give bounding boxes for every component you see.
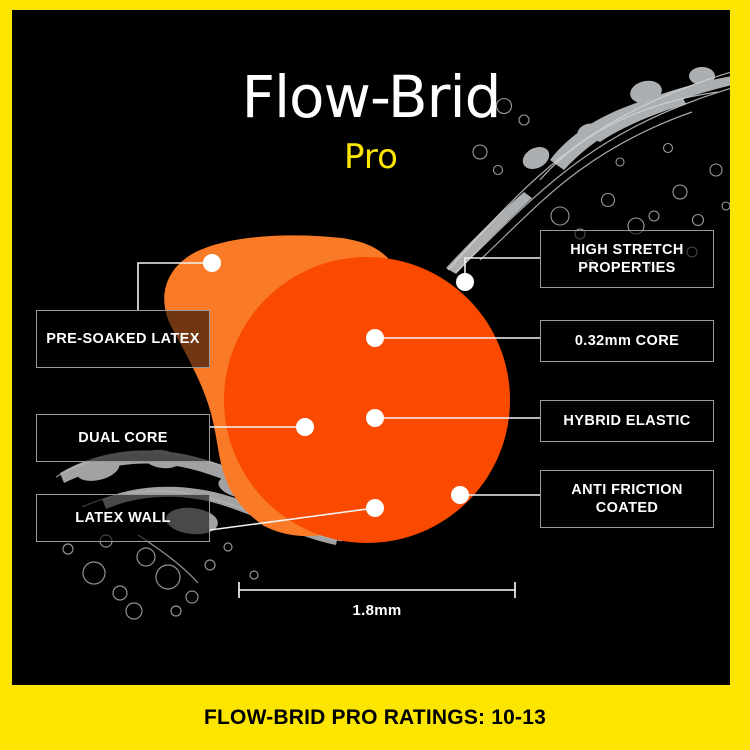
callout-dot-icon-anti-friction (451, 486, 469, 504)
callout-label: DUAL CORE (78, 429, 168, 447)
callout-dot-icon-latex-wall (366, 499, 384, 517)
callout-label: HYBRID ELASTIC (563, 412, 690, 430)
dimension-indicator: 1.8mm (237, 580, 517, 626)
callout-dot-icon-dual-core (296, 418, 314, 436)
dimension-line-icon (237, 580, 517, 600)
callout-dot-icon-core-thickness (366, 329, 384, 347)
callout-label: PRE-SOAKED LATEX (46, 330, 200, 348)
dimension-value: 1.8mm (237, 602, 517, 619)
callout-latex-wall[interactable]: LATEX WALL (36, 494, 210, 542)
callout-label: LATEX WALL (75, 509, 171, 527)
callout-dot-icon-hybrid-elastic (366, 409, 384, 427)
footer-bar: FLOW-BRID PRO RATINGS: 10-13 (0, 685, 750, 750)
callout-anti-friction-coated[interactable]: ANTI FRICTION COATED (540, 470, 714, 528)
callout-high-stretch-properties[interactable]: HIGH STRETCH PROPERTIES (540, 230, 714, 288)
callout-dual-core[interactable]: DUAL CORE (36, 414, 210, 462)
callout-label: ANTI FRICTION COATED (549, 481, 705, 517)
callout-core-thickness[interactable]: 0.32mm CORE (540, 320, 714, 362)
callout-pre-soaked-latex[interactable]: PRE-SOAKED LATEX (36, 310, 210, 368)
callout-label: 0.32mm CORE (575, 332, 679, 350)
product-infographic-poster: Flow-Brid Pro (0, 0, 750, 750)
callout-dot-icon-pre-soaked-latex (203, 254, 221, 272)
footer-ratings-text: FLOW-BRID PRO RATINGS: 10-13 (204, 706, 546, 730)
callout-dot-icon-high-stretch (456, 273, 474, 291)
callout-label: HIGH STRETCH PROPERTIES (549, 241, 705, 277)
poster-stage: Flow-Brid Pro (12, 10, 730, 685)
callout-hybrid-elastic[interactable]: HYBRID ELASTIC (540, 400, 714, 442)
